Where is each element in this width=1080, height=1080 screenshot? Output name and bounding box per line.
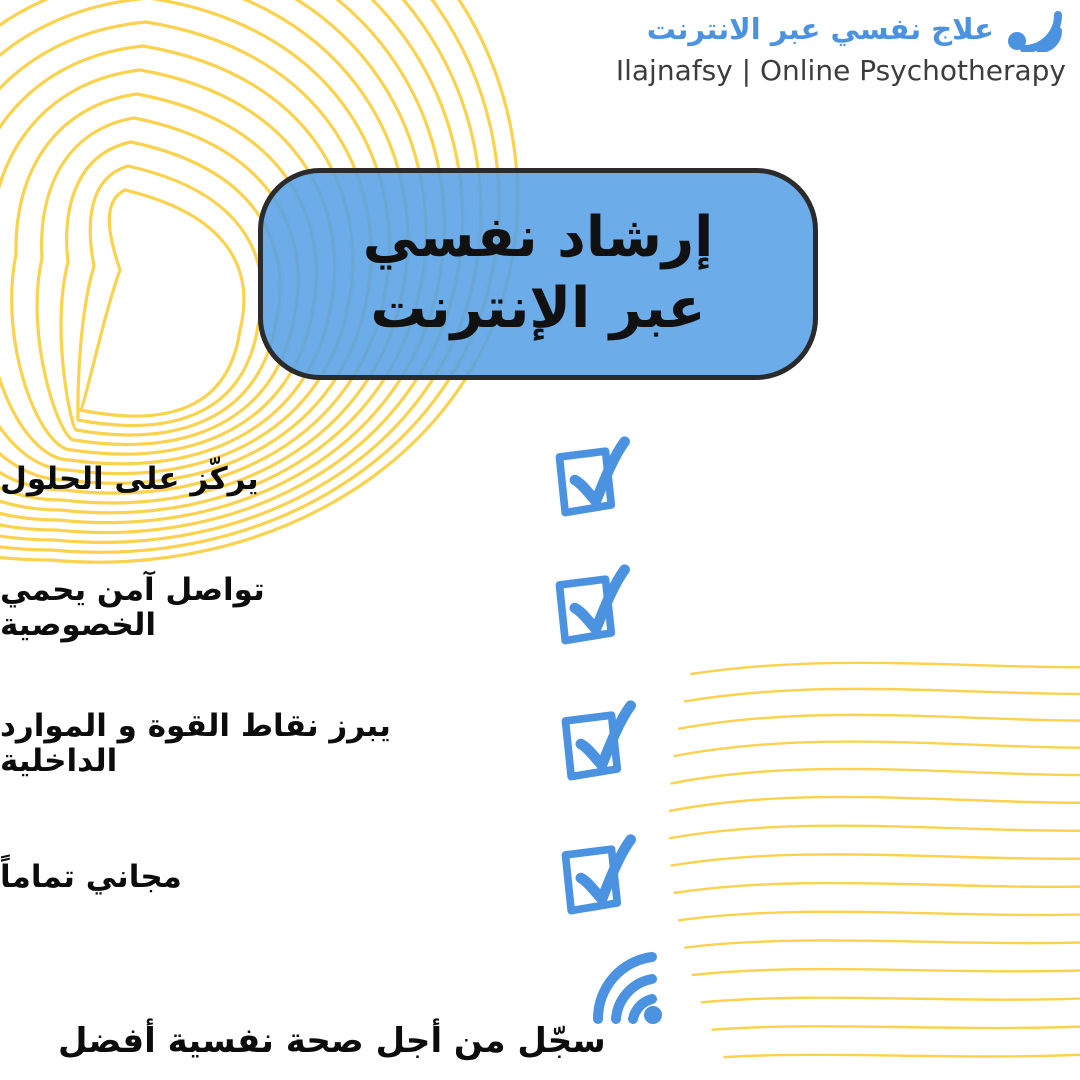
feature-list: يركّز على الحلول تواصل آمن يحمي الخصوصية… xyxy=(0,432,870,926)
wifi-signal-icon xyxy=(1004,8,1066,52)
headline-box: إرشاد نفسي عبر الإنترنت xyxy=(258,168,818,380)
wifi-signal-icon xyxy=(590,947,668,1027)
footer-cta-text: سجّل من أجل صحة نفسية أفضل xyxy=(48,1021,668,1062)
logo-top-row: علاج نفسي عبر الانترنت xyxy=(616,8,1066,52)
checkbox-checked-icon xyxy=(546,560,642,656)
feature-item: يركّز على الحلول xyxy=(0,432,870,528)
checkbox-checked-icon xyxy=(546,432,642,528)
checkbox-checked-icon xyxy=(552,696,648,792)
feature-item: مجاني تماماً xyxy=(0,830,870,926)
feature-label: يركّز على الحلول xyxy=(0,462,546,497)
logo-arabic-name: علاج نفسي عبر الانترنت xyxy=(647,13,994,46)
feature-label: تواصل آمن يحمي الخصوصية xyxy=(0,573,546,644)
feature-item: تواصل آمن يحمي الخصوصية xyxy=(0,560,870,656)
feature-label: يبرز نقاط القوة و الموارد الداخلية xyxy=(0,709,552,780)
feature-item: يبرز نقاط القوة و الموارد الداخلية xyxy=(0,696,870,792)
poster-canvas: علاج نفسي عبر الانترنت Ilajnafsy | Onlin… xyxy=(0,0,1080,1080)
checkbox-checked-icon xyxy=(552,830,648,926)
headline-title: إرشاد نفسي عبر الإنترنت xyxy=(323,203,754,344)
feature-label: مجاني تماماً xyxy=(0,860,552,895)
footer-cta: سجّل من أجل صحة نفسية أفضل xyxy=(48,947,668,1062)
logo-english-name: Ilajnafsy | Online Psychotherapy xyxy=(616,54,1066,88)
brand-logo: علاج نفسي عبر الانترنت Ilajnafsy | Onlin… xyxy=(616,8,1066,88)
